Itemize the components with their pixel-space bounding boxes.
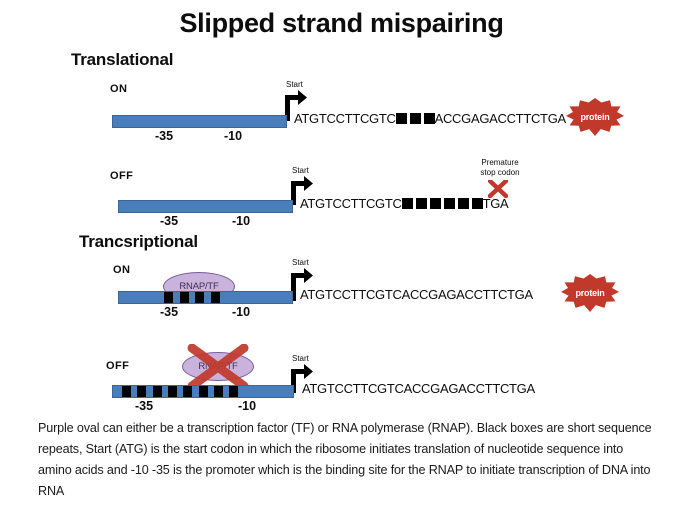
- panel-transcriptional-on: ON RNAP/TF Start -35 -10 ATGTCCTTCGTCACC…: [0, 258, 683, 330]
- dna-bar-promoter: [112, 115, 287, 128]
- repeat-box: [137, 385, 146, 398]
- state-label-off: OFF: [110, 170, 133, 182]
- repeat-box: [229, 385, 238, 398]
- sequence-full: ATGTCCTTCGTCACCGAGACCTTCTGA: [302, 381, 535, 396]
- promoter-label-minus10: -10: [238, 399, 256, 413]
- premature-stop-note: Premature stop codon: [465, 158, 535, 178]
- start-label: Start: [292, 354, 309, 363]
- state-label-on: ON: [113, 264, 130, 276]
- repeat-box: [164, 291, 173, 304]
- repeat-box: [153, 385, 162, 398]
- promoter-label-minus10: -10: [232, 214, 250, 228]
- protein-burst: protein: [561, 274, 619, 312]
- dna-bar-promoter: [118, 291, 293, 304]
- state-label-on: ON: [110, 83, 127, 95]
- section-heading-translational: Translational: [71, 50, 173, 70]
- premature-stop-line2: stop codon: [480, 168, 519, 177]
- dna-sequence: ATGTCCTTCGTCACCGAGACCTTCTGA: [300, 288, 533, 302]
- panel-transcriptional-off: OFF RNAP/TF Start -35 -10 ATGTCCTTCGTCAC…: [0, 348, 683, 420]
- panel-translational-off: OFF Start -35 -10 ATGTCCTTCGTCTGA Premat…: [0, 158, 683, 230]
- promoter-label-minus35: -35: [160, 214, 178, 228]
- premature-stop-line1: Premature: [481, 158, 518, 167]
- start-label: Start: [292, 258, 309, 267]
- repeat-box: [168, 385, 177, 398]
- promoter-label-minus10: -10: [224, 129, 242, 143]
- dna-bar-promoter: [118, 200, 293, 213]
- dna-bar-promoter: [112, 385, 294, 398]
- protein-label: protein: [561, 274, 619, 312]
- repeat-box: [458, 198, 469, 209]
- start-label: Start: [286, 80, 303, 89]
- dna-sequence: ATGTCCTTCGTCACCGAGACCTTCTGA: [302, 382, 535, 396]
- protein-label: protein: [566, 98, 624, 136]
- sequence-prefix: ATGTCCTTCGTC: [294, 111, 396, 126]
- repeat-box: [180, 291, 189, 304]
- sequence-full: ATGTCCTTCGTCACCGAGACCTTCTGA: [300, 287, 533, 302]
- dna-sequence: ATGTCCTTCGTCACCGAGACCTTCTGA: [294, 112, 566, 126]
- repeat-box: [444, 198, 455, 209]
- promoter-label-minus35: -35: [155, 129, 173, 143]
- dna-sequence: ATGTCCTTCGTCTGA: [300, 197, 508, 211]
- sequence-repeat-boxes: [402, 198, 483, 209]
- sequence-suffix: ACCGAGACCTTCTGA: [435, 111, 566, 126]
- section-heading-transcriptional: Trancsriptional: [79, 232, 198, 252]
- repeat-box: [396, 113, 407, 124]
- sequence-prefix: ATGTCCTTCGTC: [300, 196, 402, 211]
- repeat-box: [472, 198, 483, 209]
- repeat-box: [214, 385, 223, 398]
- promoter-label-minus10: -10: [232, 305, 250, 319]
- state-label-off: OFF: [106, 360, 129, 372]
- repeat-box: [122, 385, 131, 398]
- repeat-box: [199, 385, 208, 398]
- repeat-box: [183, 385, 192, 398]
- repeat-box: [416, 198, 427, 209]
- promoter-label-minus35: -35: [160, 305, 178, 319]
- stop-codon-x-icon: [488, 180, 508, 203]
- sequence-repeat-boxes: [396, 113, 435, 124]
- promoter-label-minus35: -35: [135, 399, 153, 413]
- panel-translational-on: ON Start -35 -10 ATGTCCTTCGTCACCGAGACCTT…: [0, 78, 683, 150]
- protein-burst: protein: [566, 98, 624, 136]
- repeat-box: [424, 113, 435, 124]
- repeat-box: [195, 291, 204, 304]
- repeat-box: [402, 198, 413, 209]
- repeat-box: [211, 291, 220, 304]
- repeat-box: [430, 198, 441, 209]
- repeat-box: [410, 113, 421, 124]
- figure-caption: Purple oval can either be a transcriptio…: [38, 418, 656, 502]
- page-title: Slipped strand mispairing: [0, 8, 683, 39]
- start-label: Start: [292, 166, 309, 175]
